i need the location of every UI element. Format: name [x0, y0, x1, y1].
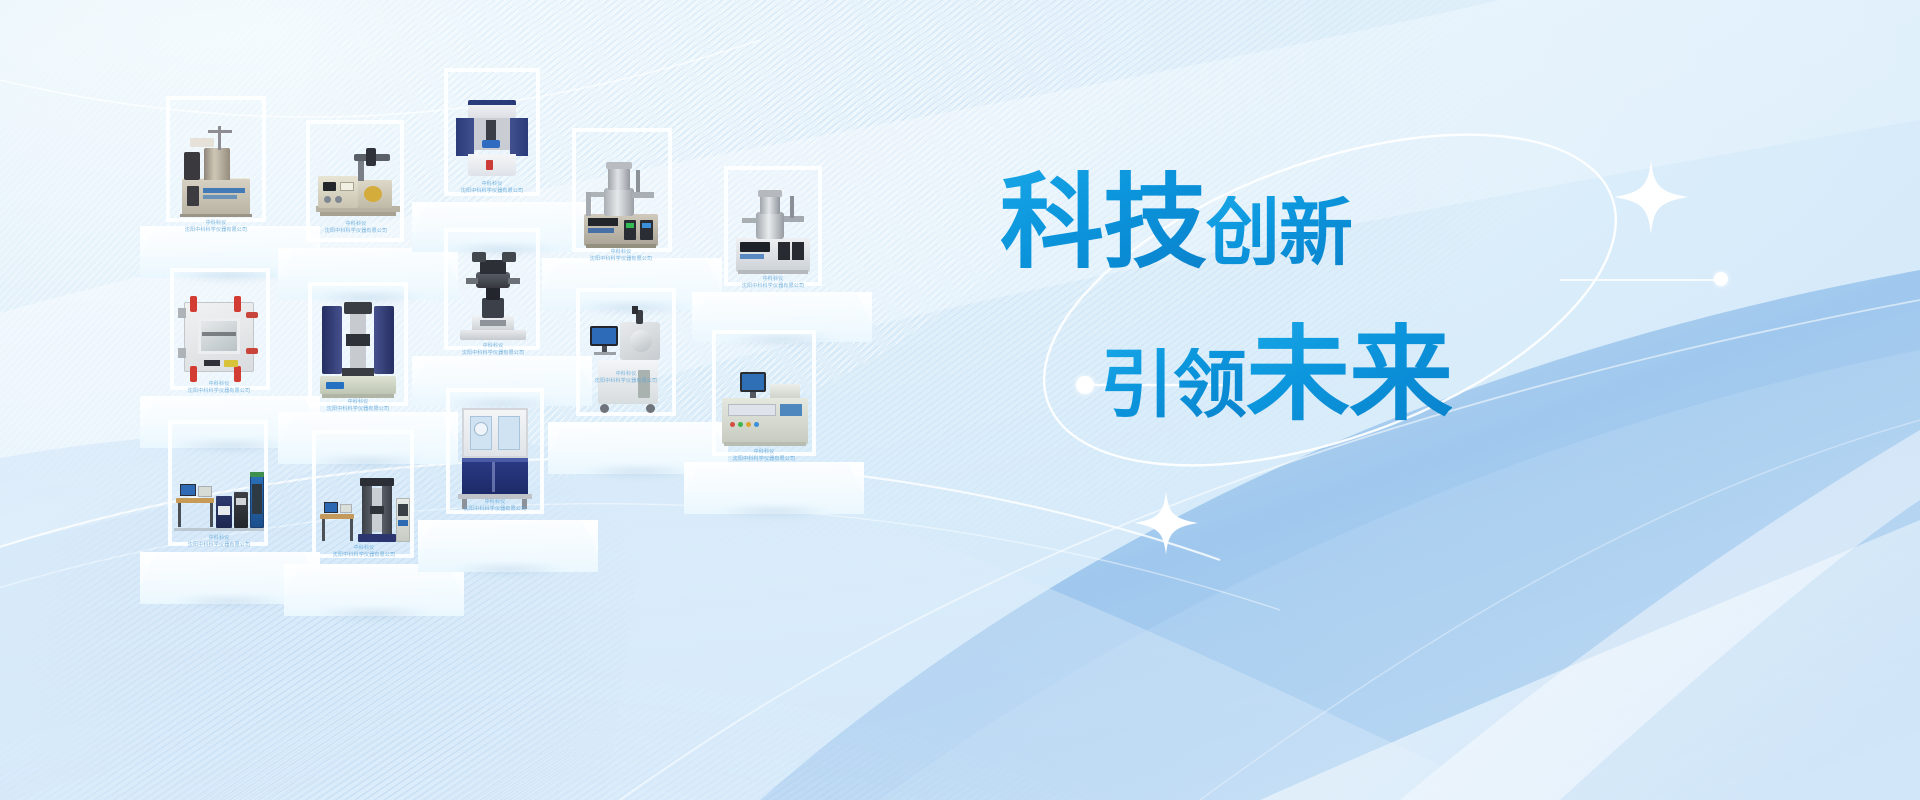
product-image-universal-testing-machine: 中科科仪沈阳中科科学仪器有限公司: [316, 464, 412, 562]
product-image-precision-grinder: 中科科仪沈阳中科科学仪器有限公司: [310, 142, 402, 248]
product-tile-cabinet-furnace-unit[interactable]: 中科科仪沈阳中科科学仪器有限公司: [418, 388, 598, 584]
headline-line-2: 引领 未来: [1000, 322, 1520, 426]
product-watermark: 中科科仪沈阳中科科学仪器有限公司: [327, 398, 389, 412]
orbit-dot-right: [1714, 272, 1728, 286]
product-watermark: 中科科仪沈阳中科科学仪器有限公司: [595, 370, 657, 384]
product-watermark: 中科科仪沈阳中科科学仪器有限公司: [325, 220, 387, 234]
product-image-cabinet-furnace-unit: 中科科仪沈阳中科科学仪器有限公司: [448, 402, 542, 516]
product-watermark: 中科科仪沈阳中科科学仪器有限公司: [188, 534, 250, 548]
product-image-nano-indenter: 中科科仪沈阳中科科学仪器有限公司: [448, 92, 536, 200]
product-image-vacuum-evaporation-coater: 中科科仪沈阳中科科学仪器有限公司: [728, 182, 818, 286]
product-watermark: 中科科仪沈阳中科科学仪器有限公司: [742, 275, 804, 289]
product-image-lab-workstation-set: 中科科仪沈阳中科科学仪器有限公司: [172, 450, 266, 552]
headline-line1-secondary: 创新: [1206, 196, 1352, 274]
headline-line2-secondary: 引领: [1100, 348, 1246, 426]
product-image-dual-column-test-machine: 中科科仪沈阳中科科学仪器有限公司: [312, 296, 404, 408]
product-image-metallurgical-microscope: 中科科仪沈阳中科科学仪器有限公司: [450, 242, 536, 352]
product-watermark: 中科科仪沈阳中科科学仪器有限公司: [188, 380, 250, 394]
product-image-vacuum-coating-tester: 中科科仪沈阳中科科学仪器有限公司: [170, 118, 262, 226]
headline-line-1: 科技 创新: [1000, 170, 1520, 274]
product-image-bench-analyzer-system: 中科科仪沈阳中科科学仪器有限公司: [716, 350, 812, 462]
product-watermark: 中科科仪沈阳中科科学仪器有限公司: [462, 342, 524, 356]
tile-pedestal: [684, 462, 864, 514]
headline-line1-primary: 科技: [1000, 170, 1206, 274]
headline-block: 科技 创新 引领 未来: [1000, 170, 1520, 570]
tile-pedestal: [418, 520, 598, 572]
product-watermark: 中科科仪沈阳中科科学仪器有限公司: [461, 180, 523, 194]
product-watermark: 中科科仪沈阳中科科学仪器有限公司: [185, 219, 247, 233]
hero-banner: 科技 创新 引领 未来 中科科仪沈阳中科科学仪器有限公司: [0, 0, 1920, 800]
product-watermark: 中科科仪沈阳中科科学仪器有限公司: [590, 248, 652, 262]
product-watermark: 中科科仪沈阳中科科学仪器有限公司: [733, 448, 795, 462]
headline-line2-primary: 未来: [1246, 322, 1452, 426]
product-tile-bench-analyzer-system[interactable]: 中科科仪沈阳中科科学仪器有限公司: [684, 330, 864, 526]
product-watermark: 中科科仪沈阳中科科学仪器有限公司: [464, 498, 526, 512]
product-watermark: 中科科仪沈阳中科科学仪器有限公司: [333, 544, 395, 558]
product-image-vacuum-chamber-box: 中科科仪沈阳中科科学仪器有限公司: [172, 290, 266, 394]
sparkle-top-right-icon: [1614, 158, 1688, 236]
